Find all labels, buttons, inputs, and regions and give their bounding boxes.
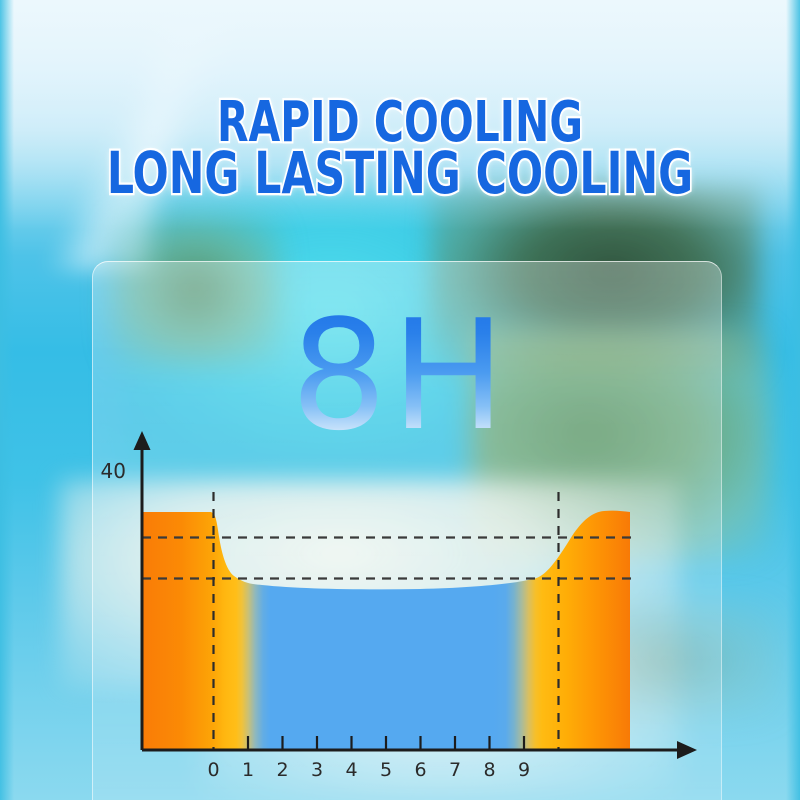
x-axis-tick-labels: 0 1 2 3 4 5 6 7 8 9 xyxy=(207,759,530,781)
x-tick-label-1: 1 xyxy=(242,759,254,781)
y-axis-arrowhead xyxy=(134,431,151,450)
x-tick-label-4: 4 xyxy=(345,759,357,781)
chart-svg: 40 0 1 2 3 4 5 6 7 8 9 xyxy=(0,0,800,800)
x-tick-label-9: 9 xyxy=(518,759,530,781)
x-axis-arrowhead xyxy=(677,741,697,759)
x-tick-label-6: 6 xyxy=(414,759,426,781)
temperature-chart: 40 0 1 2 3 4 5 6 7 8 9 xyxy=(0,0,800,800)
chart-area-series xyxy=(142,511,630,750)
x-tick-label-3: 3 xyxy=(311,759,323,781)
y-axis-top-label: 40 xyxy=(101,459,126,483)
x-tick-label-2: 2 xyxy=(276,759,288,781)
x-tick-label-0: 0 xyxy=(207,759,219,781)
x-tick-label-7: 7 xyxy=(449,759,461,781)
temperature-area-path xyxy=(142,511,630,750)
x-tick-label-5: 5 xyxy=(380,759,392,781)
x-tick-label-8: 8 xyxy=(483,759,495,781)
